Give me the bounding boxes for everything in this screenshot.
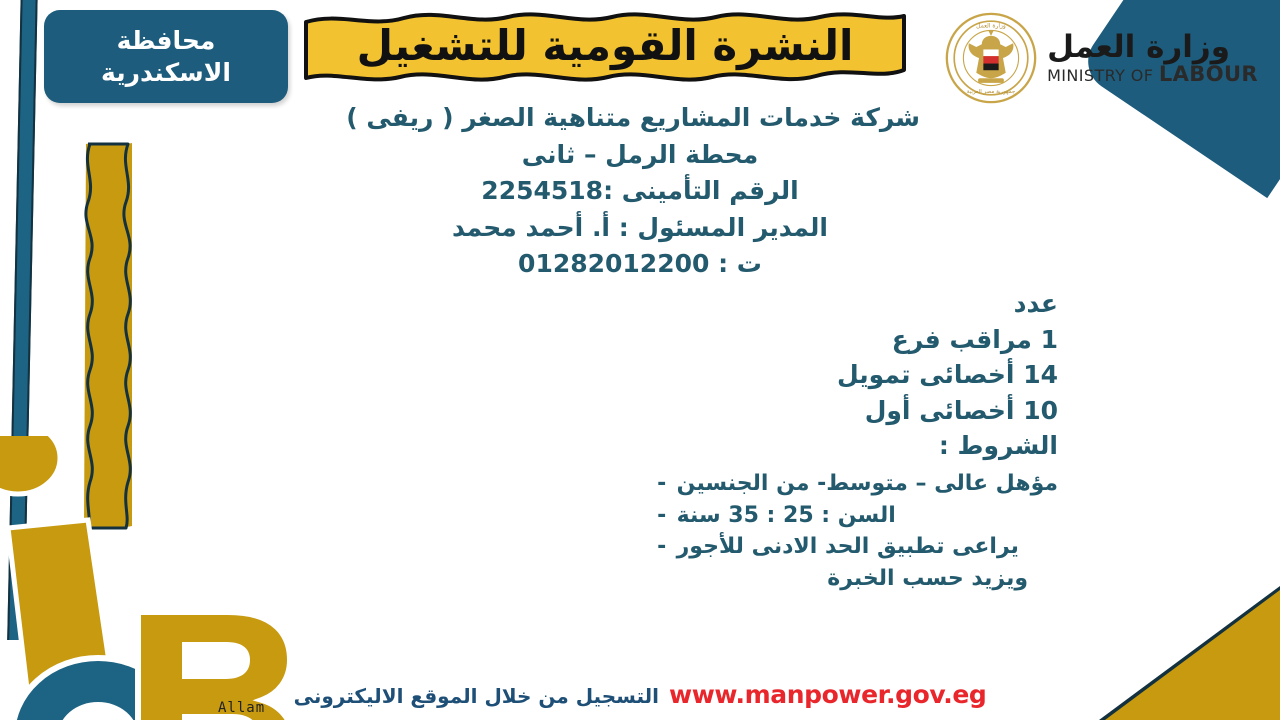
condition-text: يراعى تطبيق الحد الادنى للأجور — [677, 531, 1019, 563]
job-letterform-decoration — [0, 436, 290, 720]
company-manager: المدير المسئول : أ. أحمد محمد — [360, 210, 920, 247]
governorate-label-line1: محافظة — [117, 25, 216, 57]
governorate-label-line2: الاسكندرية — [101, 57, 231, 89]
condition-item: يراعى تطبيق الحد الادنى للأجور - — [647, 531, 1058, 563]
company-name: شركة خدمات المشاريع متناهية الصغر ( ريفى… — [360, 100, 920, 137]
egypt-eagle-emblem-icon: وزارة العمل جمهورية مصر العربية — [945, 12, 1037, 104]
slide-canvas: Allam محافظة الاسكندرية النشرة القومية ل… — [0, 0, 1280, 720]
footer-registration-note: التسجيل من خلال الموقع الاليكترونى — [294, 684, 659, 708]
conditions-header: الشروط : — [837, 428, 1058, 464]
manpower-website-link[interactable]: www.manpower.gov.eg — [669, 680, 986, 709]
condition-item: مؤهل عالى – متوسط- من الجنسين - — [647, 468, 1058, 500]
company-insurance-number: الرقم التأمينى :2254518 — [360, 173, 920, 210]
title-banner: النشرة القومية للتشغيل — [300, 8, 910, 86]
bullet-dash-icon: - — [647, 468, 677, 500]
company-phone: ت : 01282012200 — [360, 246, 920, 283]
svg-text:وزارة العمل: وزارة العمل — [976, 23, 1006, 30]
title-banner-text: النشرة القومية للتشغيل — [300, 8, 910, 86]
svg-text:جمهورية مصر العربية: جمهورية مصر العربية — [967, 89, 1016, 95]
footer: www.manpower.gov.eg التسجيل من خلال المو… — [0, 680, 1280, 709]
bullet-dash-icon: - — [647, 531, 677, 563]
condition-text: مؤهل عالى – متوسط- من الجنسين — [677, 468, 1058, 500]
conditions-list: مؤهل عالى – متوسط- من الجنسين - السن : 2… — [647, 468, 1058, 595]
vacancies-list: عدد 1 مراقب فرع 14 أخصائى تمويل 10 أخصائ… — [837, 286, 1058, 464]
condition-item: السن : 25 : 35 سنة - — [647, 500, 1058, 532]
company-address: محطة الرمل – ثانى — [360, 137, 920, 174]
ministry-wordmark: وزارة العمل MINISTRY OF LABOUR — [1047, 32, 1258, 85]
governorate-badge: محافظة الاسكندرية — [44, 10, 288, 103]
bullet-dash-icon: - — [647, 500, 677, 532]
vacancies-count-header: عدد — [837, 286, 1058, 322]
condition-text: السن : 25 : 35 سنة — [677, 500, 896, 532]
vacancy-row: 10 أخصائى أول — [837, 393, 1058, 429]
vacancy-row: 14 أخصائى تمويل — [837, 357, 1058, 393]
ministry-name-arabic: وزارة العمل — [1047, 32, 1230, 63]
vacancy-row: 1 مراقب فرع — [837, 322, 1058, 358]
conditions-note: ويزيد حسب الخبرة — [647, 563, 1058, 595]
company-details-block: شركة خدمات المشاريع متناهية الصغر ( ريفى… — [360, 100, 920, 283]
ministry-logo: وزارة العمل MINISTRY OF LABOUR وزارة الع… — [945, 12, 1258, 104]
ministry-name-english: MINISTRY OF LABOUR — [1047, 64, 1258, 85]
